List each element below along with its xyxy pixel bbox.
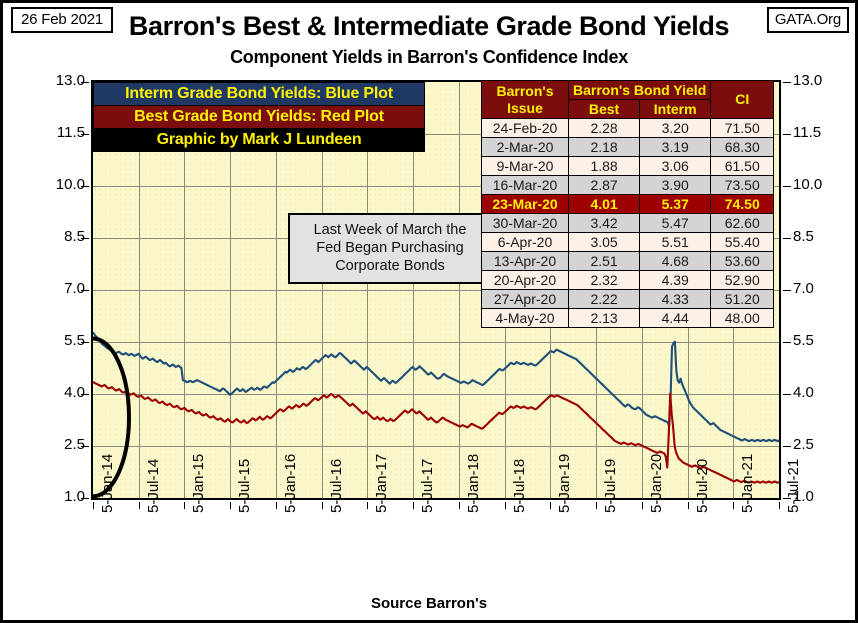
table-row: 6-Apr-203.055.5155.40 (482, 233, 774, 252)
x-tick-label: 5-Jan-15 (190, 454, 207, 513)
th-best: Best (569, 100, 640, 119)
cell-best-yield: 2.51 (569, 252, 640, 271)
cell-best-yield: 2.32 (569, 271, 640, 290)
cell-interm-yield: 4.33 (640, 290, 711, 309)
y-tick-mark-right (783, 290, 791, 291)
y-tick-mark-right (783, 394, 791, 395)
y-tick-label-right: 7.0 (793, 280, 853, 297)
legend-interm-grade: Interm Grade Bond Yields: Blue Plot (93, 82, 425, 105)
table-row: 27-Apr-202.224.3351.20 (482, 290, 774, 309)
x-tick-label: 5-Jan-20 (648, 454, 665, 513)
cell-confidence-index: 48.00 (711, 309, 774, 328)
x-tick-mark (139, 502, 140, 509)
x-tick-mark (413, 502, 414, 509)
x-tick-label: 5-Jan-19 (556, 454, 573, 513)
th-interm: Interm (640, 100, 711, 119)
x-tick-label: 5-Jul-21 (785, 459, 802, 513)
y-tick-mark-left (81, 82, 89, 83)
cell-interm-yield: 4.44 (640, 309, 711, 328)
y-tick-mark-left (81, 498, 89, 499)
cell-best-yield: 2.22 (569, 290, 640, 309)
cell-confidence-index: 73.50 (711, 176, 774, 195)
table-row: 13-Apr-202.514.6853.60 (482, 252, 774, 271)
cell-best-yield: 3.05 (569, 233, 640, 252)
y-tick-mark-left (81, 238, 89, 239)
x-tick-mark (505, 502, 506, 509)
x-tick-label: 5-Jul-14 (145, 459, 162, 513)
chart-page: 26 Feb 2021 GATA.Org Barron's Best & Int… (0, 0, 858, 623)
x-tick-mark (230, 502, 231, 509)
line-interm-grade (93, 332, 779, 441)
legend-best-grade: Best Grade Bond Yields: Red Plot (93, 105, 425, 128)
cell-interm-yield: 5.47 (640, 214, 711, 233)
y-tick-label-left: 4.0 (25, 384, 85, 401)
y-tick-label-right: 8.5 (793, 228, 853, 245)
x-tick-mark (688, 502, 689, 509)
x-tick-label: 5-Jul-15 (236, 459, 253, 513)
y-tick-mark-right (783, 82, 791, 83)
x-tick-mark (184, 502, 185, 509)
table-header-row-1: Barron's Issue Barron's Bond Yield CI (482, 81, 774, 100)
y-tick-label-right: 10.0 (793, 176, 853, 193)
x-tick-mark (93, 502, 94, 509)
th-issue-line1: Barron's (486, 83, 564, 100)
x-tick-label: 5-Jan-17 (373, 454, 390, 513)
cell-interm-yield: 5.51 (640, 233, 711, 252)
cell-confidence-index: 61.50 (711, 157, 774, 176)
cell-interm-yield: 4.68 (640, 252, 711, 271)
y-tick-label-left: 2.5 (25, 436, 85, 453)
cell-best-yield: 2.87 (569, 176, 640, 195)
cell-best-yield: 2.18 (569, 138, 640, 157)
table-row: 16-Mar-202.873.9073.50 (482, 176, 774, 195)
annotation-line-3: Corporate Bonds (294, 257, 486, 275)
x-tick-mark (459, 502, 460, 509)
cell-issue-date: 9-Mar-20 (482, 157, 569, 176)
page-subtitle: Component Yields in Barron's Confidence … (3, 47, 855, 68)
y-tick-label-right: 11.5 (793, 124, 853, 141)
x-tick-label: 5-Jan-18 (465, 454, 482, 513)
x-tick-label: 5-Jan-16 (282, 454, 299, 513)
table-body: 24-Feb-202.283.2071.502-Mar-202.183.1968… (482, 119, 774, 328)
table-row: 9-Mar-201.883.0661.50 (482, 157, 774, 176)
cell-interm-yield: 3.90 (640, 176, 711, 195)
y-tick-mark-right (783, 186, 791, 187)
cell-best-yield: 2.13 (569, 309, 640, 328)
table-row: 20-Apr-202.324.3952.90 (482, 271, 774, 290)
table-row: 2-Mar-202.183.1968.30 (482, 138, 774, 157)
x-tick-label: 5-Jan-21 (739, 454, 756, 513)
cell-issue-date: 4-May-20 (482, 309, 569, 328)
y-tick-mark-right (783, 446, 791, 447)
y-tick-label-right: 13.0 (793, 72, 853, 89)
x-tick-label: 5-Jul-17 (419, 459, 436, 513)
cell-interm-yield: 4.39 (640, 271, 711, 290)
y-tick-mark-left (81, 394, 89, 395)
cell-issue-date: 2-Mar-20 (482, 138, 569, 157)
y-tick-mark-left (81, 446, 89, 447)
cell-interm-yield: 3.19 (640, 138, 711, 157)
table-row: 24-Feb-202.283.2071.50 (482, 119, 774, 138)
x-tick-label: 5-Jan-14 (99, 454, 116, 513)
cell-confidence-index: 51.20 (711, 290, 774, 309)
table-head: Barron's Issue Barron's Bond Yield CI Be… (482, 81, 774, 119)
legend-credit: Graphic by Mark J Lundeen (93, 128, 425, 152)
y-tick-mark-left (81, 186, 89, 187)
cell-issue-date: 24-Feb-20 (482, 119, 569, 138)
table-row: 4-May-202.134.4448.00 (482, 309, 774, 328)
y-tick-mark-right (783, 238, 791, 239)
y-tick-mark-left (81, 134, 89, 135)
y-tick-label-left: 13.0 (25, 72, 85, 89)
cell-issue-date: 23-Mar-20 (482, 195, 569, 214)
cell-issue-date: 27-Apr-20 (482, 290, 569, 309)
cell-confidence-index: 68.30 (711, 138, 774, 157)
y-tick-label-right: 2.5 (793, 436, 853, 453)
y-tick-label-left: 1.0 (25, 488, 85, 505)
x-tick-label: 5-Jul-16 (328, 459, 345, 513)
annotation-line-1: Last Week of March the (294, 221, 486, 239)
cell-interm-yield: 3.06 (640, 157, 711, 176)
cell-best-yield: 1.88 (569, 157, 640, 176)
cell-issue-date: 16-Mar-20 (482, 176, 569, 195)
x-tick-mark (322, 502, 323, 509)
x-tick-mark (733, 502, 734, 509)
x-tick-label: 5-Jul-19 (602, 459, 619, 513)
cell-best-yield: 4.01 (569, 195, 640, 214)
annotation-line-2: Fed Began Purchasing (294, 239, 486, 257)
source-label: Source Barron's (3, 595, 855, 612)
y-tick-label-left: 5.5 (25, 332, 85, 349)
y-tick-label-left: 8.5 (25, 228, 85, 245)
cell-confidence-index: 52.90 (711, 271, 774, 290)
table-row: 23-Mar-204.015.3774.50 (482, 195, 774, 214)
x-tick-label: 5-Jul-18 (511, 459, 528, 513)
th-issue-line2: Issue (486, 100, 564, 117)
cell-best-yield: 3.42 (569, 214, 640, 233)
th-ci: CI (711, 81, 774, 119)
y-tick-label-left: 10.0 (25, 176, 85, 193)
x-tick-mark (596, 502, 597, 509)
y-tick-label-right: 1.0 (793, 488, 853, 505)
th-bond-yield-group: Barron's Bond Yield (569, 81, 711, 100)
cell-confidence-index: 55.40 (711, 233, 774, 252)
cell-issue-date: 20-Apr-20 (482, 271, 569, 290)
fed-purchase-annotation: Last Week of March the Fed Began Purchas… (288, 213, 492, 284)
x-tick-mark (276, 502, 277, 509)
cell-confidence-index: 71.50 (711, 119, 774, 138)
legend-box: Interm Grade Bond Yields: Blue Plot Best… (93, 82, 425, 152)
x-tick-mark (779, 502, 780, 509)
cell-confidence-index: 62.60 (711, 214, 774, 233)
th-issue: Barron's Issue (482, 81, 569, 119)
y-tick-mark-left (81, 290, 89, 291)
table-row: 30-Mar-203.425.4762.60 (482, 214, 774, 233)
x-tick-mark (367, 502, 368, 509)
cell-issue-date: 13-Apr-20 (482, 252, 569, 271)
y-tick-mark-right (783, 134, 791, 135)
y-tick-mark-left (81, 342, 89, 343)
cell-interm-yield: 3.20 (640, 119, 711, 138)
x-tick-label: 5-Jul-20 (694, 459, 711, 513)
x-tick-mark (642, 502, 643, 509)
x-tick-mark (550, 502, 551, 509)
cell-issue-date: 6-Apr-20 (482, 233, 569, 252)
page-title: Barron's Best & Intermediate Grade Bond … (3, 11, 855, 42)
cell-best-yield: 2.28 (569, 119, 640, 138)
y-tick-label-left: 7.0 (25, 280, 85, 297)
cell-confidence-index: 74.50 (711, 195, 774, 214)
y-tick-label-right: 5.5 (793, 332, 853, 349)
cell-confidence-index: 53.60 (711, 252, 774, 271)
y-tick-mark-right (783, 342, 791, 343)
y-tick-label-right: 4.0 (793, 384, 853, 401)
bond-yield-table: Barron's Issue Barron's Bond Yield CI Be… (481, 80, 774, 328)
cell-issue-date: 30-Mar-20 (482, 214, 569, 233)
cell-interm-yield: 5.37 (640, 195, 711, 214)
y-tick-label-left: 11.5 (25, 124, 85, 141)
